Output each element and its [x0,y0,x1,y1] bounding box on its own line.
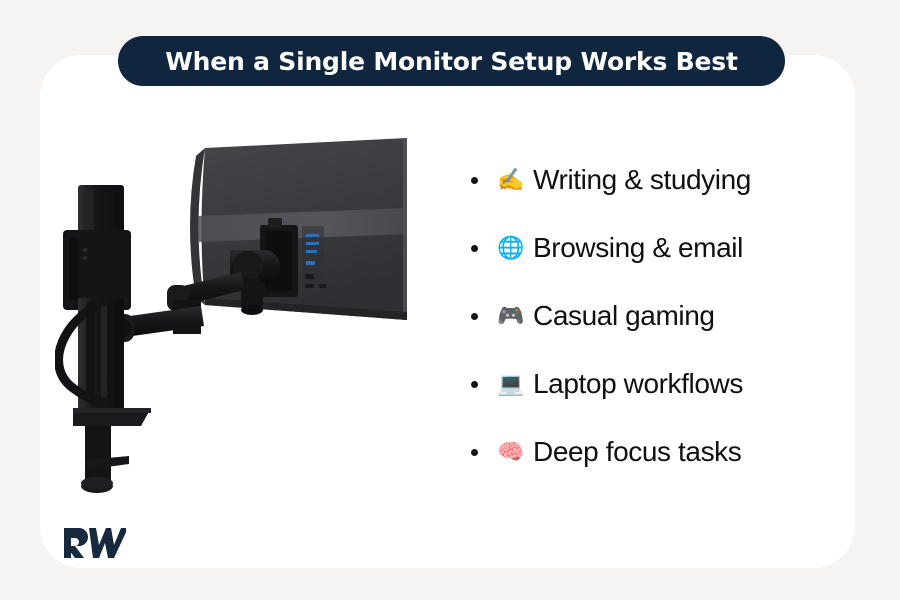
bullet-dot-icon [471,245,478,252]
use-case-list: ✍️ Writing & studying 🌐 Browsing & email… [466,146,866,486]
globe-emoji: 🌐 [497,237,525,259]
bullet-dot-icon [471,177,478,184]
list-item-label: Deep focus tasks [533,436,741,468]
monitor-arm-illustration [55,130,445,495]
bullet-dot-icon [471,313,478,320]
list-item: 🎮 Casual gaming [466,282,866,350]
monitor-arm-product-photo [55,130,445,495]
slide-canvas: When a Single Monitor Setup Works Best ✍… [0,0,900,600]
brain-emoji: 🧠 [497,441,525,463]
mount-pole [63,185,131,414]
list-item: ✍️ Writing & studying [466,146,866,214]
desk-clamp-base [73,408,151,493]
list-item-label: Writing & studying [533,164,751,196]
writing-hand-emoji: ✍️ [497,169,525,191]
page-title: When a Single Monitor Setup Works Best [165,47,737,76]
list-item-label: Browsing & email [533,232,743,264]
bullet-dot-icon [471,449,478,456]
laptop-emoji: 💻 [497,373,525,395]
brand-logo [62,524,126,558]
rw-monogram-logo [62,524,126,558]
bullet-dot-icon [471,381,478,388]
title-pill: When a Single Monitor Setup Works Best [118,36,785,86]
list-item: 🧠 Deep focus tasks [466,418,866,486]
list-item-label: Laptop workflows [533,368,743,400]
list-item-label: Casual gaming [533,300,715,332]
list-item: 🌐 Browsing & email [466,214,866,282]
list-item: 💻 Laptop workflows [466,350,866,418]
video-game-controller-emoji: 🎮 [497,305,525,327]
